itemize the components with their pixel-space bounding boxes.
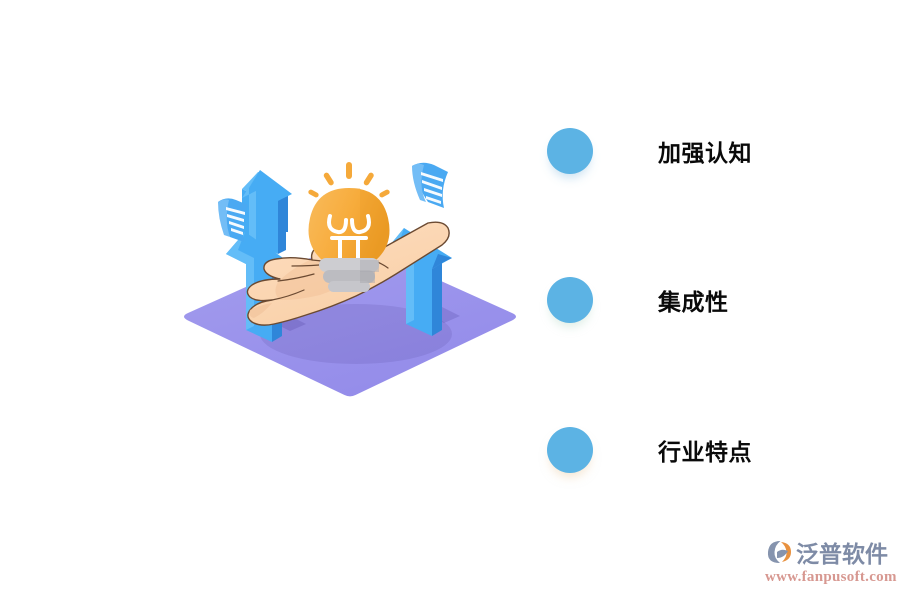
watermark-url: www.fanpusoft.com <box>765 569 897 586</box>
slide-canvas: 加强认知 集成性 行业特点 泛普软件 www.fanpusoft.com <box>0 0 900 600</box>
document-sheet-right <box>412 163 448 208</box>
brand-watermark: 泛普软件 www.fanpusoft.com <box>764 532 896 590</box>
bullet-label: 行业特点 <box>658 433 752 467</box>
watermark-top-row: 泛普软件 <box>764 536 888 568</box>
bullet-dot-icon <box>547 128 593 174</box>
bullet-dot-icon <box>547 427 593 473</box>
bullet-dot-icon <box>547 277 593 323</box>
fanpu-logo-icon <box>764 538 794 566</box>
bullet-label: 加强认知 <box>658 134 752 168</box>
hand-lightbulb-illustration <box>160 150 540 420</box>
feature-bullet-list: 加强认知 集成性 行业特点 <box>540 110 880 500</box>
bullet-label: 集成性 <box>658 283 729 317</box>
list-item[interactable]: 加强认知 <box>540 123 752 179</box>
watermark-brand-name: 泛普软件 <box>796 535 888 569</box>
list-item[interactable]: 行业特点 <box>540 422 752 478</box>
list-item[interactable]: 集成性 <box>540 272 729 328</box>
